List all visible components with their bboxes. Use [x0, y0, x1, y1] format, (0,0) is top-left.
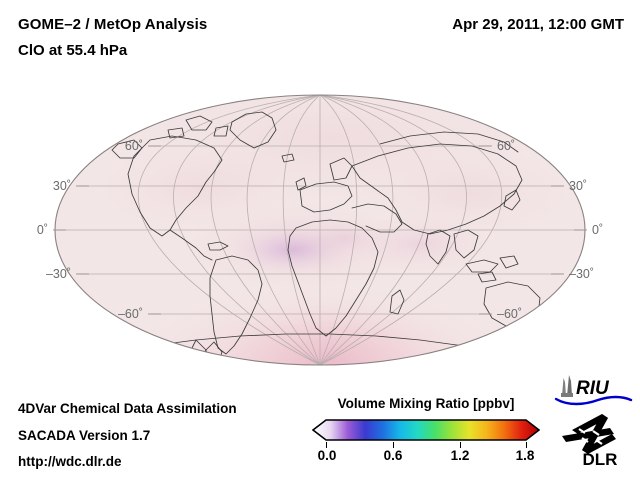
- timestamp-label: Apr 29, 2011, 12:00 GMT: [452, 16, 624, 33]
- lat-label-m60-right: –60˚: [497, 307, 522, 321]
- colorbar-body: [313, 420, 539, 440]
- lat-label-0-right: 0˚: [592, 223, 603, 237]
- lat-label-m30-left: –30˚: [46, 267, 71, 281]
- dlr-logo: DLR: [558, 412, 638, 470]
- colorbar-tick-label-3: 1.8: [516, 448, 535, 463]
- page-subtitle: ClO at 55.4 hPa: [18, 42, 127, 59]
- map-panel: 60˚ 60˚ 30˚ 30˚ 0˚ 0˚ –30˚ –30˚ –60˚ –60…: [0, 78, 640, 378]
- lat-label-60-right: 60˚: [497, 139, 515, 153]
- dlr-wordmark: DLR: [583, 450, 618, 469]
- lat-label-0-left: 0˚: [37, 223, 48, 237]
- world-map: 60˚ 60˚ 30˚ 30˚ 0˚ 0˚ –30˚ –30˚ –60˚ –60…: [0, 78, 640, 378]
- lat-label-m30-right: –30˚: [569, 267, 594, 281]
- colorbar-tick-label-0: 0.0: [318, 448, 337, 463]
- footer-line-method: 4DVar Chemical Data Assimilation: [18, 401, 237, 416]
- colorbar-tick-label-2: 1.2: [451, 448, 470, 463]
- colorbar-title: Volume Mixing Ratio [ppbv]: [312, 396, 540, 411]
- colorbar-tick-label-1: 0.6: [384, 448, 403, 463]
- dlr-logo-svg: DLR: [558, 412, 638, 470]
- riu-logo-svg: RIU: [552, 372, 634, 408]
- lat-label-60-left: 60˚: [125, 139, 143, 153]
- colorbar-bar: [312, 418, 540, 442]
- footer-line-url[interactable]: http://wdc.dlr.de: [18, 454, 122, 469]
- lat-label-30-right: 30˚: [569, 179, 587, 193]
- colorbar-svg: [312, 418, 540, 442]
- colorbar-legend: Volume Mixing Ratio [ppbv]: [312, 396, 540, 472]
- riu-spire-icon: [561, 375, 573, 397]
- riu-logo: RIU: [552, 372, 634, 408]
- lat-label-m60-left: –60˚: [118, 307, 143, 321]
- colorbar-tick-labels: 0.0 0.6 1.2 1.8: [312, 448, 540, 468]
- page-title: GOME–2 / MetOp Analysis: [18, 16, 207, 33]
- footer-line-version: SACADA Version 1.7: [18, 428, 150, 443]
- dlr-emblem-icon: [562, 414, 616, 454]
- lat-label-30-left: 30˚: [53, 179, 71, 193]
- riu-wordmark: RIU: [576, 378, 610, 399]
